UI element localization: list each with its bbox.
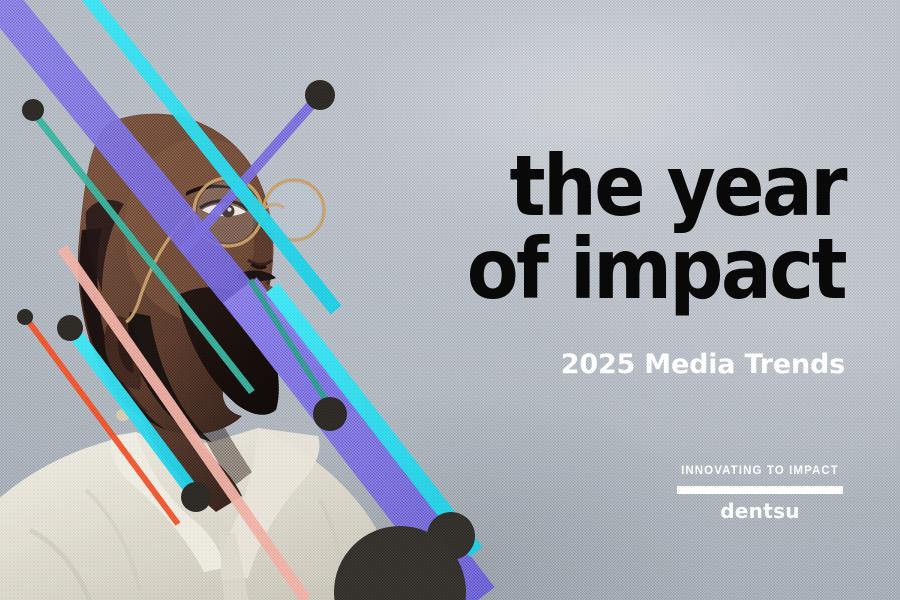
purple-line-short-right — [182, 97, 318, 252]
copy-block: the year of impact 2025 Media Trends INN… — [425, 0, 845, 600]
logo-divider-bar — [677, 486, 843, 494]
subtitle: 2025 Media Trends — [561, 349, 845, 380]
dot-upper-left — [22, 99, 44, 121]
headline-line-2: of impact — [467, 231, 845, 308]
dot-mid-teal-end — [313, 397, 347, 431]
brand-logo-lockup: INNOVATING TO IMPACT dentsu — [675, 466, 845, 522]
page-title: the year of impact — [467, 0, 845, 309]
dot-top-right — [305, 80, 335, 110]
key-visual-canvas: the year of impact 2025 Media Trends INN… — [0, 0, 900, 600]
dot-left-orange — [17, 309, 33, 325]
dot-mid-cyan-end — [181, 482, 211, 512]
headline-line-1: the year — [467, 148, 845, 225]
brand-tagline: INNOVATING TO IMPACT — [681, 466, 839, 478]
dot-left-cyan — [57, 315, 83, 341]
brand-wordmark: dentsu — [720, 501, 800, 521]
orange-line — [26, 318, 178, 524]
